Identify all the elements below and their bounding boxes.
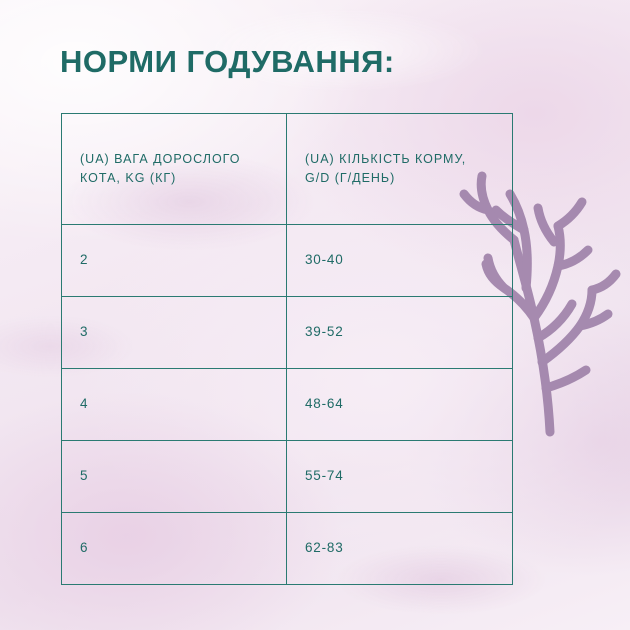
cell-weight: 5 <box>62 441 287 513</box>
table-row: 3 39-52 <box>62 297 513 369</box>
table-header-weight: (UA) ВАГА ДОРОСЛОГО КОТА, KG (КГ) <box>62 114 287 225</box>
feeding-norms-page: НОРМИ ГОДУВАННЯ: (UA) ВАГА ДОРОСЛОГО КОТ… <box>0 0 630 630</box>
cell-weight: 2 <box>62 225 287 297</box>
cell-amount: 39-52 <box>287 297 513 369</box>
table-row: 5 55-74 <box>62 441 513 513</box>
feeding-table-wrapper: (UA) ВАГА ДОРОСЛОГО КОТА, KG (КГ) (UA) К… <box>61 113 438 585</box>
cell-amount: 62-83 <box>287 513 513 585</box>
cell-amount: 30-40 <box>287 225 513 297</box>
cell-amount: 55-74 <box>287 441 513 513</box>
table-row: 2 30-40 <box>62 225 513 297</box>
cell-amount: 48-64 <box>287 369 513 441</box>
feeding-norms-table: (UA) ВАГА ДОРОСЛОГО КОТА, KG (КГ) (UA) К… <box>61 113 513 585</box>
table-row: 4 48-64 <box>62 369 513 441</box>
table-row: 6 62-83 <box>62 513 513 585</box>
table-header-row: (UA) ВАГА ДОРОСЛОГО КОТА, KG (КГ) (UA) К… <box>62 114 513 225</box>
cell-weight: 4 <box>62 369 287 441</box>
cell-weight: 6 <box>62 513 287 585</box>
page-title: НОРМИ ГОДУВАННЯ: <box>60 44 395 80</box>
cell-weight: 3 <box>62 297 287 369</box>
table-header-amount: (UA) КІЛЬКІСТЬ КОРМУ, G/D (Г/ДЕНЬ) <box>287 114 513 225</box>
